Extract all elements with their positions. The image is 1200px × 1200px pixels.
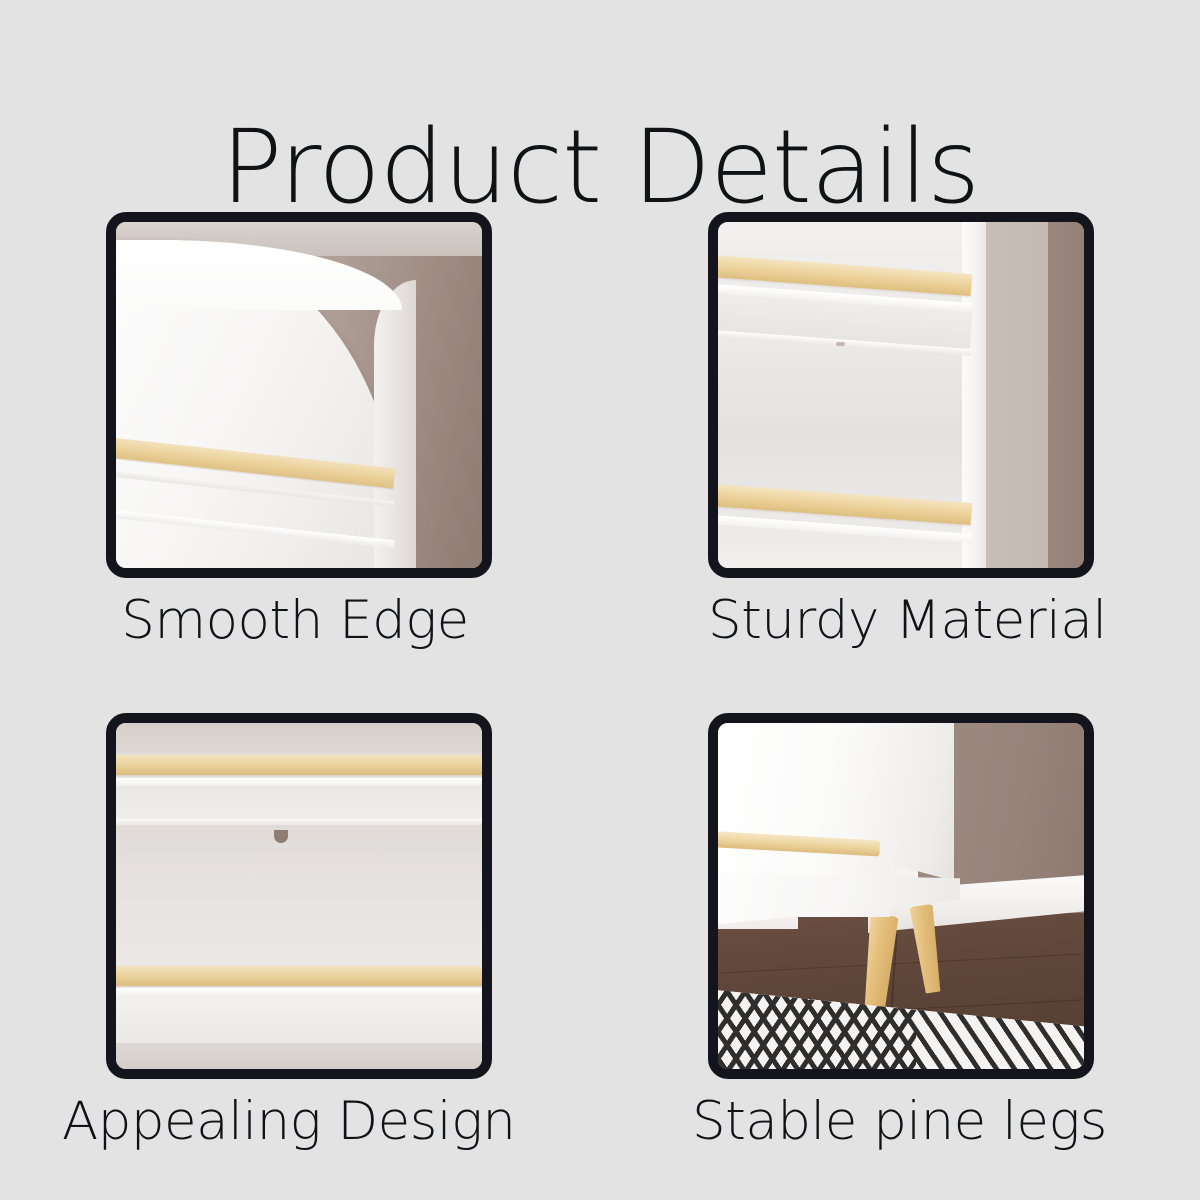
feature-image-frame — [708, 713, 1094, 1079]
feature-image-frame — [708, 212, 1094, 578]
feature-card-sturdy-material[interactable]: Sturdy Material — [708, 212, 1094, 650]
product-photo-sturdy-material — [718, 222, 1084, 568]
lower-drawer-panel — [116, 997, 482, 1043]
pine-handle-strip — [116, 966, 482, 986]
feature-card-appealing-design[interactable]: Appealing Design — [106, 713, 492, 1151]
center-drawer-panel — [116, 825, 482, 967]
feature-image-frame — [106, 713, 492, 1079]
pine-handle-strip — [116, 755, 482, 775]
bottom-shadow-band — [116, 1043, 482, 1069]
wall-background-dark — [1048, 222, 1084, 568]
feature-caption: Appealing Design — [62, 1093, 492, 1151]
surface-detail-mark — [836, 342, 845, 346]
drawer-seam — [116, 778, 482, 786]
feature-caption: Smooth Edge — [98, 592, 492, 650]
feature-grid: Smooth Edge Sturdy Material — [0, 0, 1200, 1200]
drawer-seam — [116, 988, 482, 997]
cabinet-side-face — [882, 723, 954, 881]
white-panel-side-face — [374, 280, 416, 568]
product-photo-smooth-edge — [116, 222, 482, 568]
product-photo-appealing-design — [116, 723, 482, 1069]
top-shadow-band — [116, 723, 482, 753]
feature-caption: Sturdy Material — [708, 592, 1094, 650]
feature-caption: Stable pine legs — [692, 1093, 1094, 1151]
product-photo-stable-pine-legs — [718, 723, 1084, 1069]
feature-card-smooth-edge[interactable]: Smooth Edge — [106, 212, 492, 650]
wall-background-light — [986, 222, 1054, 568]
feature-card-stable-pine-legs[interactable]: Stable pine legs — [708, 713, 1094, 1151]
feature-image-frame — [106, 212, 492, 578]
